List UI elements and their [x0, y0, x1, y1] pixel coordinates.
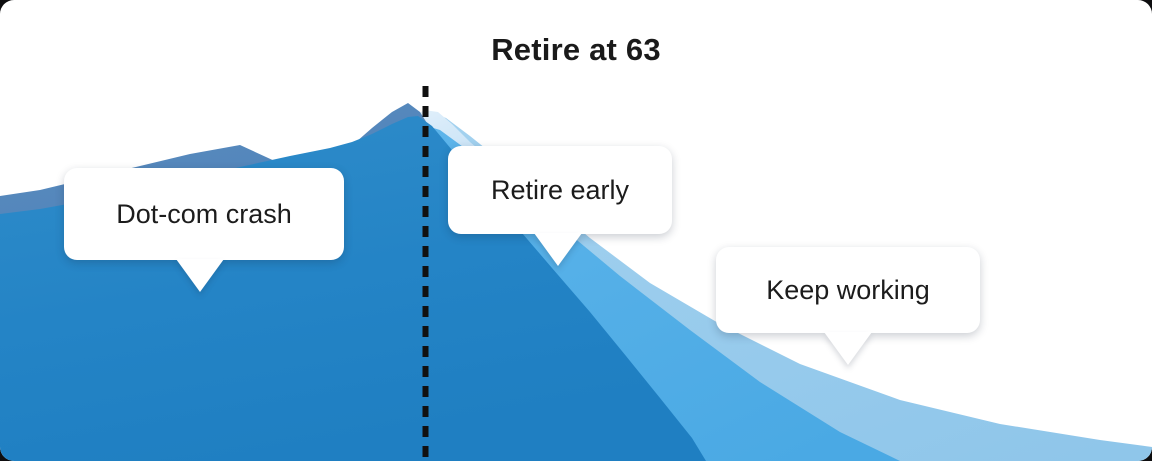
callout-label: Keep working [766, 277, 930, 304]
callout-tail-icon [824, 332, 872, 365]
callout-keep-working[interactable]: Keep working [716, 247, 980, 333]
callout-retire-early[interactable]: Retire early [448, 146, 672, 234]
callout-label: Dot-com crash [116, 201, 292, 228]
chart-card: Retire at 63 Dot-com crash Retire early … [0, 0, 1152, 461]
callout-dot-com-crash[interactable]: Dot-com crash [64, 168, 344, 260]
callout-tail-icon [534, 233, 582, 266]
callout-label: Retire early [491, 177, 629, 204]
callout-tail-icon [176, 259, 224, 292]
